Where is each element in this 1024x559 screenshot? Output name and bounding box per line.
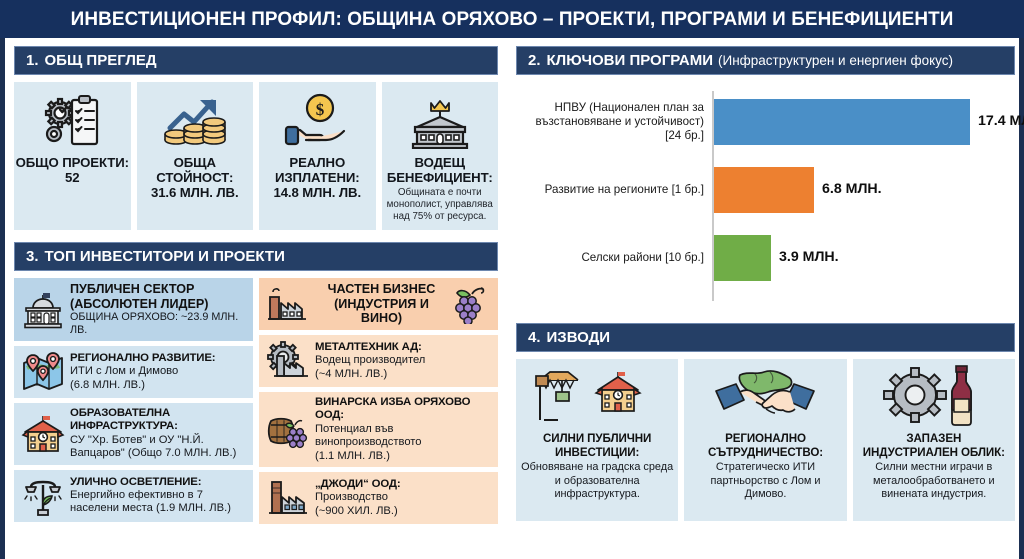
investor-item-body: ИТИ с Лом и Димово (6.8 МЛН. ЛВ.) — [70, 365, 247, 392]
section-2-number: 2. — [528, 52, 541, 69]
public-sector-lead-text: ПУБЛИЧЕН СЕКТОР (АБСОЛЮТЕН ЛИДЕР) ОБЩИНА… — [66, 282, 247, 337]
investor-item-text: „ДЖОДИ“ ООД: Производство (~900 ХИЛ. ЛВ.… — [311, 478, 492, 518]
investor-item: ВИНАРСКА ИЗБА ОРЯХОВО ООД: Потенциал във… — [259, 392, 498, 467]
right-column: 2. КЛЮЧОВИ ПРОГРАМИ (Инфраструктурен и е… — [516, 46, 1015, 521]
chart-bar-rural — [714, 235, 771, 281]
investor-item-text: ОБРАЗОВАТЕЛНА ИНФРАСТРУКТУРА: СУ "Хр. Бо… — [66, 407, 247, 461]
conclusion-card-body: Обновяване на градска среда и образовате… — [521, 461, 673, 501]
section-1-heading: ОБЩ ПРЕГЛЕД — [45, 52, 157, 69]
investor-item-head: МЕТАЛТЕХНИК АД: — [315, 341, 492, 354]
investor-item-text: ВИНАРСКА ИЗБА ОРЯХОВО ООД: Потенциал във… — [311, 396, 492, 463]
chart-bar-row: НПВУ (Национален план за възстановяване … — [516, 99, 1015, 145]
section-2-header: 2. КЛЮЧОВИ ПРОГРАМИ (Инфраструктурен и е… — [516, 46, 1015, 75]
conclusion-card-body: Силни местни играчи в металообработванет… — [858, 461, 1010, 501]
private-business-column: ЧАСТЕН БИЗНЕС (ИНДУСТРИЯ И ВИНО) — [259, 278, 498, 524]
overview-card-beneficiary: ВОДЕЩ БЕНЕФИЦИЕНТ: Общината е почти моно… — [382, 82, 499, 230]
investor-item: МЕТАЛТЕХНИК АД: Водещ производител (~4 М… — [259, 335, 498, 387]
investor-item-body: Потенциал във винопроизводството (1.1 МЛ… — [315, 423, 492, 463]
chart-bar-value: 17.4 МЛН. — [978, 113, 1024, 129]
conclusion-card-title: ЗАПАЗЕН ИНДУСТРИАЛЕН ОБЛИК: — [858, 432, 1010, 459]
chart-bar-npvu — [714, 99, 970, 145]
private-business-lead-title: ЧАСТЕН БИЗНЕС (ИНДУСТРИЯ И ВИНО) — [315, 282, 448, 326]
investor-item-text: РЕГИОНАЛНО РАЗВИТИЕ: ИТИ с Лом и Димово … — [66, 352, 247, 392]
checklist-gear-icon — [41, 89, 103, 151]
public-sector-lead-title: ПУБЛИЧЕН СЕКТОР (АБСОЛЮТЕН ЛИДЕР) — [70, 282, 247, 311]
chart-bar-label: НПВУ (Национален план за възстановяване … — [522, 101, 712, 144]
section-3-heading: ТОП ИНВЕСТИТОРИ И ПРОЕКТИ — [45, 248, 285, 265]
growth-coins-icon — [162, 89, 228, 151]
overview-card-total-value: ОБЩА СТОЙНОСТ: 31.6 МЛН. ЛВ. — [137, 82, 254, 230]
overview-card-title: ОБЩО ПРОЕКТИ: 52 — [16, 155, 129, 185]
section-1-header: 1. ОБЩ ПРЕГЛЕД — [14, 46, 498, 75]
conclusion-card-body: Стратегическо ИТИ партньорство с Лом и Д… — [689, 461, 841, 501]
chart-bar-row: Селски райони [10 бр.] 3.9 МЛН. — [516, 235, 1015, 281]
gear-wine-icon — [879, 365, 989, 427]
industrial-plant-icon — [265, 477, 311, 519]
svg-text:$: $ — [316, 100, 325, 119]
investor-item: РЕГИОНАЛНО РАЗВИТИЕ: ИТИ с Лом и Димово … — [14, 346, 253, 398]
grapes-icon — [448, 284, 492, 324]
school-icon — [20, 413, 66, 455]
chart-bar-label: Селски райони [10 бр.] — [522, 251, 712, 265]
crane-school-icon — [532, 365, 662, 427]
key-programs-chart: НПВУ (Национален план за възстановяване … — [516, 79, 1015, 319]
private-business-lead-card: ЧАСТЕН БИЗНЕС (ИНДУСТРИЯ И ВИНО) — [259, 278, 498, 330]
handshake-map-icon — [710, 365, 820, 427]
section-2-subheading: (Инфраструктурен и енергиен фокус) — [718, 53, 953, 68]
conclusion-card-regional-cooperation: РЕГИОНАЛНО СЪТРУДНИЧЕСТВО: Стратегическо… — [684, 359, 846, 521]
chart-bar-regions — [714, 167, 814, 213]
conclusion-card-public-investment: СИЛНИ ПУБЛИЧНИ ИНВЕСТИЦИИ: Обновяване на… — [516, 359, 678, 521]
chart-plot-area: НПВУ (Национален план за възстановяване … — [516, 91, 1015, 303]
map-pins-icon — [20, 352, 66, 392]
public-sector-column: ПУБЛИЧЕН СЕКТОР (АБСОЛЮТЕН ЛИДЕР) ОБЩИНА… — [14, 278, 253, 524]
chart-bar-value: 3.9 МЛН. — [779, 249, 839, 265]
investor-item-head: УЛИЧНО ОСВЕТЛЕНИЕ: — [70, 476, 247, 489]
page-title-bar: ИНВЕСТИЦИОНЕН ПРОФИЛ: ОБЩИНА ОРЯХОВО – П… — [0, 0, 1024, 38]
overview-card-projects: ОБЩО ПРОЕКТИ: 52 — [14, 82, 131, 230]
investor-item-text: УЛИЧНО ОСВЕТЛЕНИЕ: Енергийно ефективно в… — [66, 476, 247, 516]
government-building-icon — [20, 289, 66, 331]
investors-grid: ПУБЛИЧЕН СЕКТОР (АБСОЛЮТЕН ЛИДЕР) ОБЩИНА… — [14, 278, 498, 524]
gear-factory-icon — [265, 340, 311, 382]
investor-item: „ДЖОДИ“ ООД: Производство (~900 ХИЛ. ЛВ.… — [259, 472, 498, 524]
crowned-bank-icon — [409, 89, 471, 151]
investor-item: УЛИЧНО ОСВЕТЛЕНИЕ: Енергийно ефективно в… — [14, 470, 253, 522]
investor-item-text: МЕТАЛТЕХНИК АД: Водещ производител (~4 М… — [311, 341, 492, 381]
section-4-number: 4. — [528, 329, 541, 346]
factory-icon — [265, 284, 311, 324]
section-4-heading: ИЗВОДИ — [547, 329, 611, 346]
overview-card-title: РЕАЛНО ИЗПЛАТЕНИ: 14.8 МЛН. ЛВ. — [259, 155, 376, 200]
investor-item-body: СУ "Хр. Ботев" и ОУ "Н.Й. Вапцаров" (Общ… — [70, 434, 247, 461]
private-business-lead-text: ЧАСТЕН БИЗНЕС (ИНДУСТРИЯ И ВИНО) — [311, 282, 448, 326]
section-4-header: 4. ИЗВОДИ — [516, 323, 1015, 352]
conclusion-card-title: РЕГИОНАЛНО СЪТРУДНИЧЕСТВО: — [689, 432, 841, 459]
investor-item-head: ОБРАЗОВАТЕЛНА ИНФРАСТРУКТУРА: — [70, 407, 247, 434]
street-lamp-icon — [20, 475, 66, 517]
chart-bar-value: 6.8 МЛН. — [822, 181, 882, 197]
chart-bar-label: Развитие на регионите [1 бр.] — [522, 183, 712, 197]
overview-card-note: Общината е почти монополист, управлява н… — [382, 187, 499, 224]
investor-item-body: Енергийно ефективно в 7 населени места (… — [70, 489, 247, 516]
section-3-header: 3. ТОП ИНВЕСТИТОРИ И ПРОЕКТИ — [14, 242, 498, 271]
wine-barrel-grapes-icon — [265, 409, 311, 451]
investor-item-body: Водещ производител (~4 МЛН. ЛВ.) — [315, 354, 492, 381]
investor-item-head: „ДЖОДИ“ ООД: — [315, 478, 492, 491]
chart-bar-row: Развитие на регионите [1 бр.] 6.8 МЛН. — [516, 167, 1015, 213]
overview-cards: ОБЩО ПРОЕКТИ: 52 ОБЩА СТОЙНОСТ: — [14, 82, 498, 230]
left-column: 1. ОБЩ ПРЕГЛЕД — [14, 46, 498, 524]
public-sector-lead-card: ПУБЛИЧЕН СЕКТОР (АБСОЛЮТЕН ЛИДЕР) ОБЩИНА… — [14, 278, 253, 341]
conclusion-card-industrial-profile: ЗАПАЗЕН ИНДУСТРИАЛЕН ОБЛИК: Силни местни… — [853, 359, 1015, 521]
overview-card-paid: $ РЕАЛНО ИЗПЛАТЕНИ: 14.8 МЛН. ЛВ. — [259, 82, 376, 230]
section-1-number: 1. — [26, 52, 39, 69]
section-2-heading: КЛЮЧОВИ ПРОГРАМИ — [547, 52, 714, 69]
conclusions-cards: СИЛНИ ПУБЛИЧНИ ИНВЕСТИЦИИ: Обновяване на… — [516, 359, 1015, 521]
section-3-number: 3. — [26, 248, 39, 265]
infographic-page: ИНВЕСТИЦИОНЕН ПРОФИЛ: ОБЩИНА ОРЯХОВО – П… — [0, 0, 1024, 559]
hand-coin-icon: $ — [284, 89, 350, 151]
overview-card-title: ОБЩА СТОЙНОСТ: 31.6 МЛН. ЛВ. — [137, 155, 254, 200]
investor-item-head: ВИНАРСКА ИЗБА ОРЯХОВО ООД: — [315, 396, 492, 423]
public-sector-lead-sub: ОБЩИНА ОРЯХОВО: ~23.9 МЛН. ЛВ. — [70, 311, 247, 337]
investor-item-body: Производство (~900 ХИЛ. ЛВ.) — [315, 491, 492, 518]
conclusion-card-title: СИЛНИ ПУБЛИЧНИ ИНВЕСТИЦИИ: — [521, 432, 673, 459]
page-title: ИНВЕСТИЦИОНЕН ПРОФИЛ: ОБЩИНА ОРЯХОВО – П… — [71, 8, 954, 31]
overview-card-title: ВОДЕЩ БЕНЕФИЦИЕНТ: — [382, 155, 499, 185]
investor-item: ОБРАЗОВАТЕЛНА ИНФРАСТРУКТУРА: СУ "Хр. Бо… — [14, 403, 253, 465]
investor-item-head: РЕГИОНАЛНО РАЗВИТИЕ: — [70, 352, 247, 365]
